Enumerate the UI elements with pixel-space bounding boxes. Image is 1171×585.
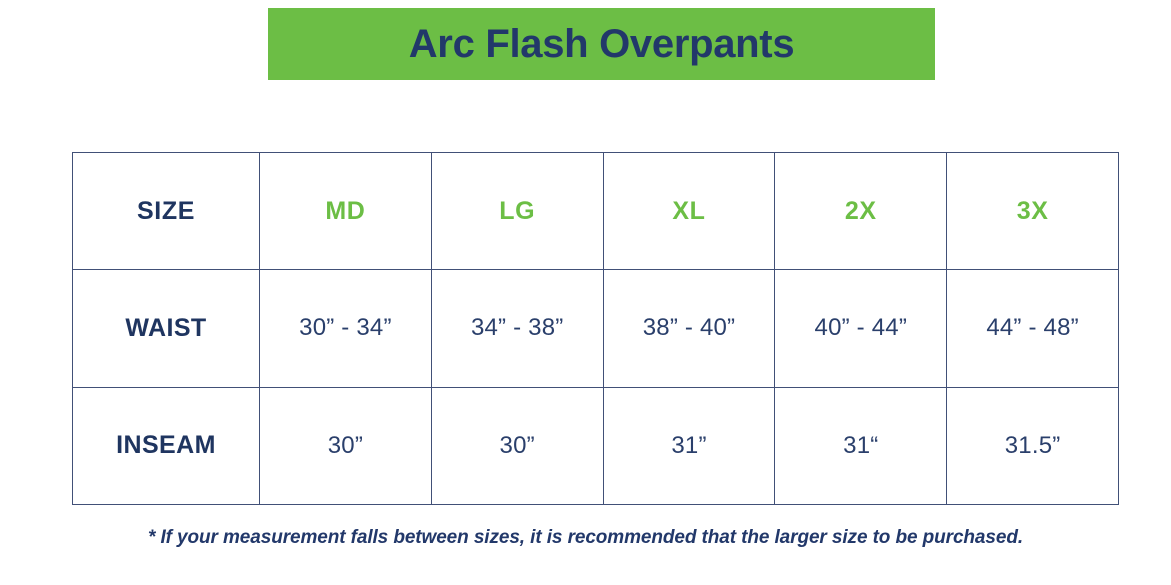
value-inseam-md: 30” bbox=[328, 432, 363, 459]
footnote-text: * If your measurement falls between size… bbox=[0, 527, 1171, 549]
header-label-md: MD bbox=[325, 197, 365, 225]
table-header-cell-xl: XL bbox=[603, 153, 775, 270]
cell-inseam-3x: 31.5” bbox=[947, 387, 1119, 504]
value-waist-lg: 34” - 38” bbox=[471, 314, 564, 341]
table-header-row: SIZE MD LG XL 2X 3X bbox=[73, 153, 1119, 270]
cell-inseam-xl: 31” bbox=[603, 387, 775, 504]
table-header-cell-2x: 2X bbox=[775, 153, 947, 270]
value-inseam-2x: 31“ bbox=[843, 432, 878, 459]
header-label-size: SIZE bbox=[137, 197, 195, 225]
cell-inseam-lg: 30” bbox=[431, 387, 603, 504]
cell-waist-2x: 40” - 44” bbox=[775, 270, 947, 387]
row-label-waist: WAIST bbox=[125, 314, 206, 342]
size-chart-table: SIZE MD LG XL 2X 3X bbox=[72, 152, 1119, 505]
size-chart-table-container: SIZE MD LG XL 2X 3X bbox=[72, 152, 1118, 505]
page-title: Arc Flash Overpants bbox=[409, 24, 795, 64]
value-waist-2x: 40” - 44” bbox=[815, 314, 908, 341]
cell-waist-md: 30” - 34” bbox=[260, 270, 432, 387]
cell-inseam-md: 30” bbox=[260, 387, 432, 504]
value-inseam-3x: 31.5” bbox=[1005, 432, 1061, 459]
cell-inseam-2x: 31“ bbox=[775, 387, 947, 504]
cell-waist-3x: 44” - 48” bbox=[947, 270, 1119, 387]
header-label-xl: XL bbox=[672, 197, 705, 225]
value-waist-xl: 38” - 40” bbox=[643, 314, 736, 341]
row-label-cell-waist: WAIST bbox=[73, 270, 260, 387]
header-label-3x: 3X bbox=[1017, 197, 1049, 225]
table-header-cell-3x: 3X bbox=[947, 153, 1119, 270]
table-header-cell-md: MD bbox=[260, 153, 432, 270]
value-waist-md: 30” - 34” bbox=[299, 314, 392, 341]
table-header-cell-lg: LG bbox=[431, 153, 603, 270]
header-label-2x: 2X bbox=[845, 197, 877, 225]
value-waist-3x: 44” - 48” bbox=[986, 314, 1079, 341]
table-row: INSEAM 30” 30” 31” 31“ 31.5” bbox=[73, 387, 1119, 504]
value-inseam-lg: 30” bbox=[500, 432, 535, 459]
table-header-cell-size: SIZE bbox=[73, 153, 260, 270]
row-label-cell-inseam: INSEAM bbox=[73, 387, 260, 504]
cell-waist-xl: 38” - 40” bbox=[603, 270, 775, 387]
title-banner: Arc Flash Overpants bbox=[268, 8, 935, 80]
table-row: WAIST 30” - 34” 34” - 38” 38” - 40” 40” … bbox=[73, 270, 1119, 387]
cell-waist-lg: 34” - 38” bbox=[431, 270, 603, 387]
header-label-lg: LG bbox=[499, 197, 535, 225]
row-label-inseam: INSEAM bbox=[116, 431, 216, 459]
value-inseam-xl: 31” bbox=[671, 432, 706, 459]
